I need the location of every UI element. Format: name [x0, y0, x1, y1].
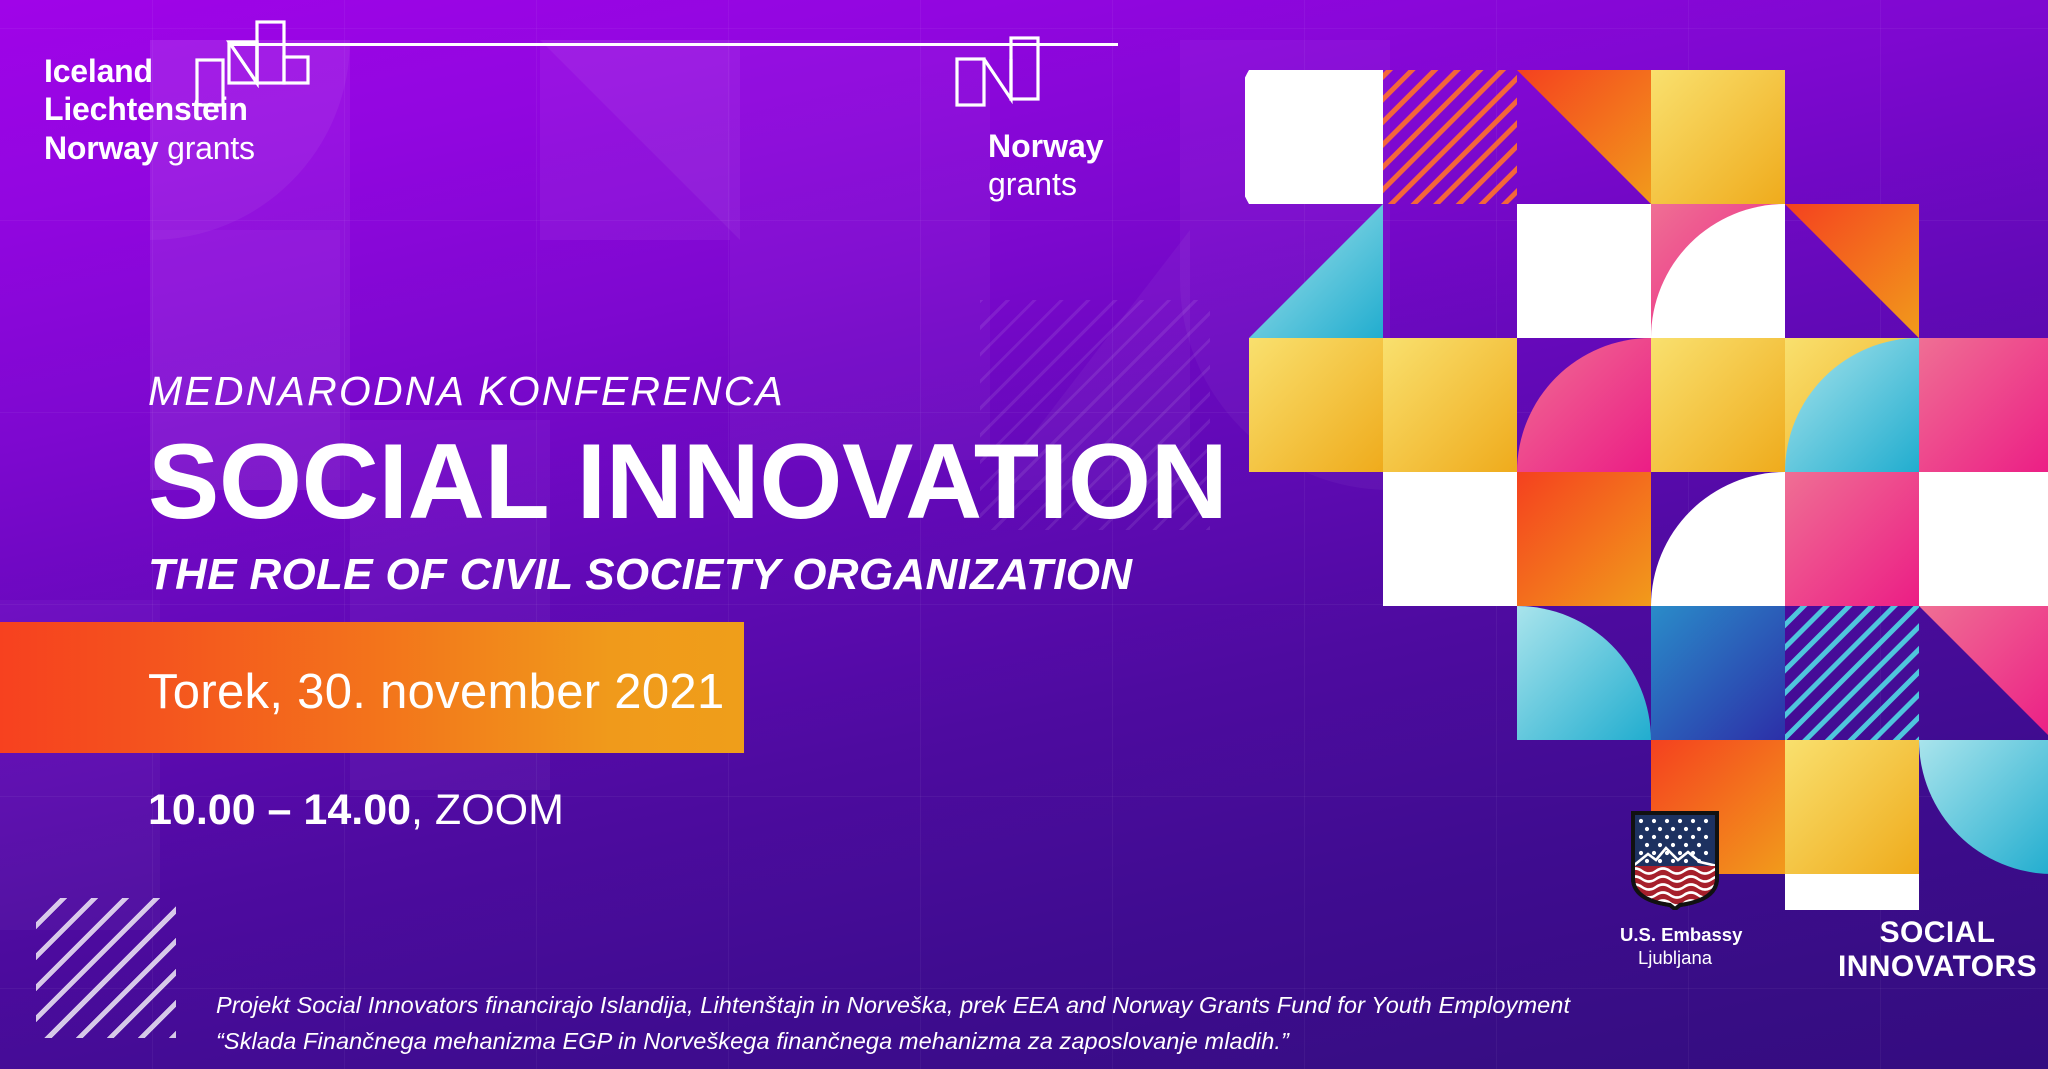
us-embassy-caption-line-1: U.S. Embassy — [1620, 923, 1730, 946]
grants-logo-grants-thin: grants — [167, 130, 255, 166]
conference-poster: Iceland Liechtenstein Norway grants Norw… — [0, 0, 2048, 1069]
social-innovators-line-1: SOCIAL — [1838, 916, 2037, 950]
funding-disclaimer: Projekt Social Innovators financirajo Is… — [216, 988, 1570, 1059]
page-title: SOCIAL INNOVATION — [148, 427, 1227, 536]
us-embassy-caption: U.S. Embassy Ljubljana — [1620, 923, 1730, 969]
page-subtitle: THE ROLE OF CIVIL SOCIETY ORGANIZATION — [148, 550, 1227, 600]
background-triangle — [540, 40, 740, 240]
eea-grants-bar-mark-icon — [195, 20, 310, 110]
norway-grants-bar-mark-icon — [955, 36, 1041, 108]
norway-grants-bold: Norway — [988, 128, 1104, 166]
norway-grants-thin: grants — [988, 166, 1104, 204]
us-embassy-crest-icon — [1628, 808, 1722, 915]
geometric-pattern — [1245, 30, 2048, 910]
event-time-platform: 10.00 – 14.00, ZOOM — [148, 786, 564, 835]
social-innovators-logo: SOCIAL INNOVATORS — [1838, 916, 2037, 983]
us-embassy-logo: U.S. Embassy Ljubljana — [1620, 808, 1730, 969]
event-time: 10.00 – 14.00 — [148, 786, 411, 834]
grants-logo-norway-bold: Norway — [44, 130, 158, 166]
us-embassy-caption-line-2: Ljubljana — [1620, 946, 1730, 969]
social-innovators-line-2: INNOVATORS — [1838, 950, 2037, 984]
funding-disclaimer-line-1: Projekt Social Innovators financirajo Is… — [216, 988, 1570, 1024]
grants-logo-line-norway: Norway grants — [44, 129, 255, 167]
event-platform: , ZOOM — [411, 786, 564, 834]
conference-kicker: MEDNARODNA KONFERENCA — [148, 368, 1227, 415]
corner-hatch-decoration — [36, 898, 176, 1038]
event-date: Torek, 30. november 2021 — [148, 664, 725, 720]
norway-grants-logo: Norway grants — [988, 128, 1104, 204]
headline-block: MEDNARODNA KONFERENCA SOCIAL INNOVATION … — [148, 368, 1227, 600]
geometric-pattern-svg — [1245, 30, 2048, 910]
funding-disclaimer-line-2: “Sklada Finančnega mehanizma EGP in Norv… — [216, 1024, 1570, 1060]
